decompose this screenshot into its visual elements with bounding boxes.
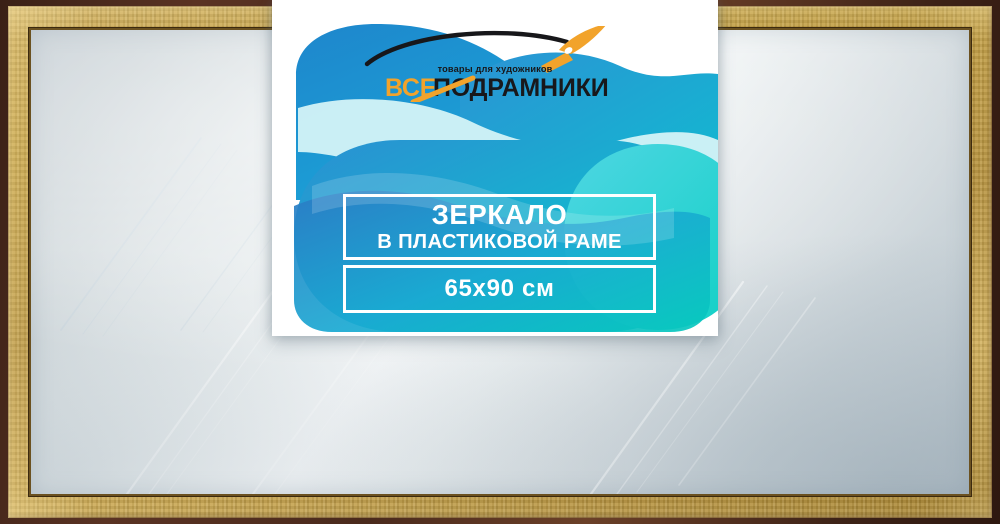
brand-name-dark: ПОДРАМНИКИ [433,74,609,102]
product-label-card: товары для художников ВСЕ ПОДРАМНИКИ ЗЕР… [272,0,718,336]
brand-tagline: товары для художников [438,64,553,74]
title-line-1: ЗЕРКАЛО [432,201,568,229]
mirror-product-photo: товары для художников ВСЕ ПОДРАМНИКИ ЗЕР… [0,0,1000,524]
size-plate: 65x90 см [343,265,656,313]
brand-logo: товары для художников ВСЕ ПОДРАМНИКИ [272,26,718,102]
title-plate: ЗЕРКАЛО В ПЛАСТИКОВОЙ РАМЕ [343,194,656,260]
title-line-2: В ПЛАСТИКОВОЙ РАМЕ [377,231,622,254]
swoosh-arc-top-icon [367,33,567,64]
size-value: 65x90 см [444,275,554,303]
